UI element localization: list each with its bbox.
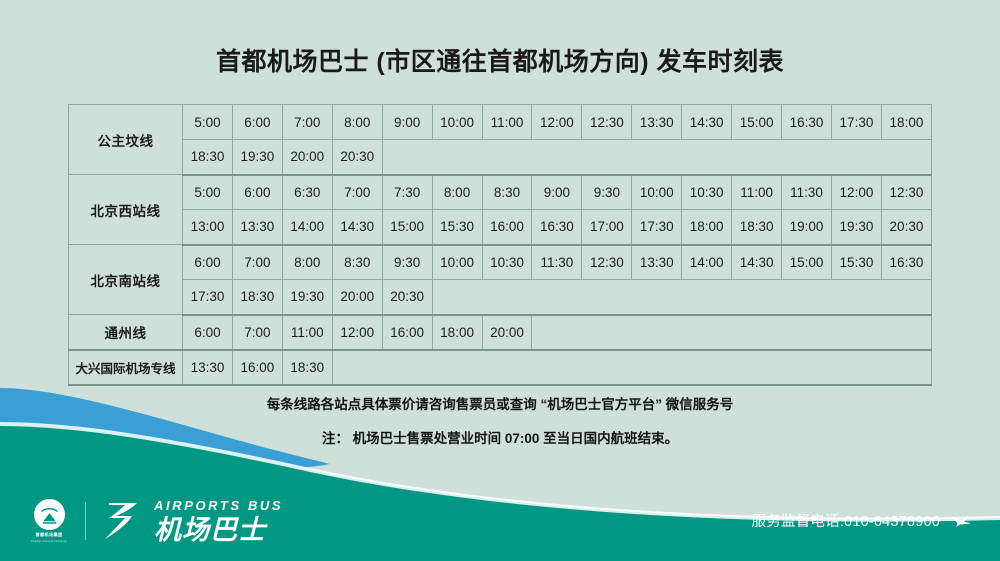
departure-time-cell: 20:00	[482, 315, 532, 350]
poster-root: 首都机场巴士 (市区通往首都机场方向) 发车时刻表 公主坟线5:006:007:…	[0, 0, 1000, 561]
departure-time-cell: 17:00	[582, 210, 632, 245]
departure-time-cell: 12:30	[582, 105, 632, 140]
table-row: 北京南站线6:007:008:008:309:3010:0010:3011:30…	[69, 245, 932, 280]
departure-time-cell: 14:00	[282, 210, 332, 245]
departure-time-cell: 10:30	[482, 245, 532, 280]
table-row: 13:0013:3014:0014:3015:0015:3016:0016:30…	[69, 210, 932, 245]
departure-time-cell: 20:30	[881, 210, 931, 245]
departure-time-cell: 18:00	[682, 210, 732, 245]
departure-time-cell: 16:30	[532, 210, 582, 245]
departure-time-cell: 8:30	[332, 245, 382, 280]
table-row: 通州线6:007:0011:0012:0016:0018:0020:00	[69, 315, 932, 350]
note-hours: 注： 机场巴士售票处营业时间 07:00 至当日国内航班结束。	[0, 432, 1000, 447]
service-phone-text: 服务监督电话:010-64378900	[752, 510, 940, 531]
departure-time-cell: 16:30	[782, 105, 832, 140]
departure-time-cell: 20:30	[382, 280, 432, 315]
departure-time-cell: 16:00	[232, 350, 282, 385]
departure-time-cell: 19:30	[282, 280, 332, 315]
empty-cell	[382, 140, 931, 175]
route-label: 北京南站线	[69, 245, 183, 315]
departure-time-cell: 6:00	[183, 245, 233, 280]
departure-time-cell: 12:00	[332, 315, 382, 350]
departure-time-cell: 18:30	[232, 280, 282, 315]
airports-bus-mark-icon	[99, 500, 145, 542]
departure-time-cell: 13:30	[232, 210, 282, 245]
departure-time-cell: 17:30	[183, 280, 233, 315]
departure-time-cell: 16:30	[881, 245, 931, 280]
departure-time-cell: 14:00	[682, 245, 732, 280]
departure-time-cell: 13:30	[632, 245, 682, 280]
departure-time-cell: 14:30	[732, 245, 782, 280]
departure-time-cell: 9:00	[532, 175, 582, 210]
departure-time-cell: 13:30	[632, 105, 682, 140]
route-label: 大兴国际机场专线	[69, 350, 183, 385]
departure-time-cell: 16:00	[482, 210, 532, 245]
departure-time-cell: 18:00	[432, 315, 482, 350]
departure-time-cell: 15:30	[432, 210, 482, 245]
departure-time-cell: 9:30	[382, 245, 432, 280]
page-title: 首都机场巴士 (市区通往首都机场方向) 发车时刻表	[0, 42, 1000, 78]
departure-time-cell: 20:30	[332, 140, 382, 175]
departure-time-cell: 5:00	[183, 105, 233, 140]
departure-time-cell: 7:00	[282, 105, 332, 140]
departure-time-cell: 18:30	[183, 140, 233, 175]
departure-time-cell: 9:00	[382, 105, 432, 140]
route-label: 通州线	[69, 315, 183, 350]
departure-time-cell: 14:30	[332, 210, 382, 245]
departure-time-cell: 6:30	[282, 175, 332, 210]
departure-time-cell: 10:00	[432, 245, 482, 280]
timetable-container: 公主坟线5:006:007:008:009:0010:0011:0012:001…	[68, 104, 932, 386]
departure-time-cell: 9:30	[582, 175, 632, 210]
departure-time-cell: 15:00	[732, 105, 782, 140]
departure-time-cell: 10:00	[432, 105, 482, 140]
departure-time-cell: 10:30	[682, 175, 732, 210]
departure-time-cell: 19:00	[782, 210, 832, 245]
departure-time-cell: 15:30	[831, 245, 881, 280]
empty-cell	[532, 315, 932, 350]
departure-time-cell: 8:00	[432, 175, 482, 210]
empty-cell	[432, 280, 931, 315]
departure-time-cell: 8:00	[332, 105, 382, 140]
departure-time-cell: 8:00	[282, 245, 332, 280]
departure-time-cell: 5:00	[183, 175, 233, 210]
departure-time-cell: 11:30	[532, 245, 582, 280]
departure-time-cell: 18:30	[732, 210, 782, 245]
route-label: 北京西站线	[69, 175, 183, 245]
departure-time-cell: 7:00	[232, 245, 282, 280]
footer-contact: 服务监督电话:010-64378900	[752, 510, 972, 531]
departure-time-cell: 18:00	[881, 105, 931, 140]
brand-text-block: AIRPORTS BUS 机场巴士	[154, 499, 283, 544]
departure-time-cell: 7:30	[382, 175, 432, 210]
bus-timetable: 公主坟线5:006:007:008:009:0010:0011:0012:001…	[68, 104, 932, 386]
empty-cell	[332, 350, 931, 385]
capital-airports-emblem: 首都机场集团 Capital Airports Holdings	[26, 498, 72, 544]
departure-time-cell: 19:30	[831, 210, 881, 245]
table-row: 18:3019:3020:0020:30	[69, 140, 932, 175]
table-row: 大兴国际机场专线13:3016:0018:30	[69, 350, 932, 385]
brand-chinese-label: 机场巴士	[154, 517, 283, 544]
departure-time-cell: 8:30	[482, 175, 532, 210]
emblem-chinese-text: 首都机场集团	[36, 532, 63, 538]
departure-time-cell: 6:00	[232, 105, 282, 140]
note-fare: 每条线路各站点具体票价请咨询售票员或查询 “机场巴士官方平台” 微信服务号	[0, 398, 1000, 413]
departure-time-cell: 20:00	[282, 140, 332, 175]
departure-time-cell: 17:30	[632, 210, 682, 245]
emblem-circle-icon	[34, 499, 65, 530]
notes-block: 每条线路各站点具体票价请咨询售票员或查询 “机场巴士官方平台” 微信服务号 注：…	[0, 398, 1000, 447]
departure-time-cell: 13:30	[183, 350, 233, 385]
departure-time-cell: 15:00	[382, 210, 432, 245]
route-label: 公主坟线	[69, 105, 183, 175]
departure-time-cell: 15:00	[782, 245, 832, 280]
departure-time-cell: 16:00	[382, 315, 432, 350]
departure-time-cell: 12:00	[831, 175, 881, 210]
departure-time-cell: 12:30	[582, 245, 632, 280]
table-row: 17:3018:3019:3020:0020:30	[69, 280, 932, 315]
emblem-english-text: Capital Airports Holdings	[31, 539, 67, 543]
brand-english-label: AIRPORTS BUS	[154, 499, 283, 512]
departure-time-cell: 7:00	[232, 315, 282, 350]
departure-time-cell: 6:00	[232, 175, 282, 210]
table-row: 北京西站线5:006:006:307:007:308:008:309:009:3…	[69, 175, 932, 210]
departure-time-cell: 12:00	[532, 105, 582, 140]
departure-time-cell: 12:30	[881, 175, 931, 210]
departure-time-cell: 11:30	[782, 175, 832, 210]
departure-time-cell: 17:30	[831, 105, 881, 140]
departure-time-cell: 14:30	[682, 105, 732, 140]
footer-brand: 首都机场集团 Capital Airports Holdings AIRPORT…	[26, 498, 283, 544]
departure-time-cell: 10:00	[632, 175, 682, 210]
departure-time-cell: 7:00	[332, 175, 382, 210]
airplane-icon	[951, 513, 972, 528]
departure-time-cell: 18:30	[282, 350, 332, 385]
brand-divider	[85, 502, 86, 540]
departure-time-cell: 6:00	[183, 315, 233, 350]
departure-time-cell: 11:00	[282, 315, 332, 350]
departure-time-cell: 13:00	[183, 210, 233, 245]
table-row: 公主坟线5:006:007:008:009:0010:0011:0012:001…	[69, 105, 932, 140]
departure-time-cell: 11:00	[482, 105, 532, 140]
departure-time-cell: 19:30	[232, 140, 282, 175]
departure-time-cell: 11:00	[732, 175, 782, 210]
departure-time-cell: 20:00	[332, 280, 382, 315]
